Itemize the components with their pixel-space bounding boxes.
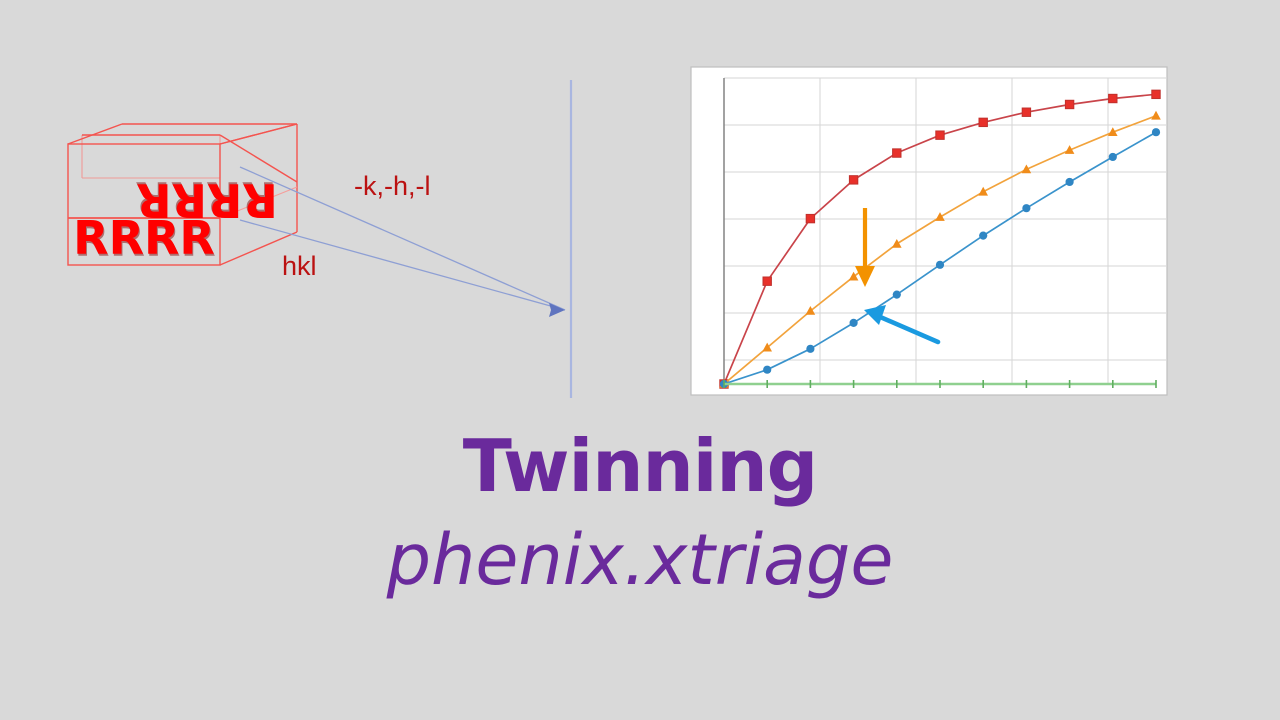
plot-background (691, 67, 1167, 395)
marker-square (893, 149, 901, 157)
lower-index-label: hkl (282, 251, 317, 281)
marker-square (936, 131, 944, 139)
marker-square (806, 214, 814, 222)
page-title: Twinning (0, 424, 1280, 508)
upright-r-group: RRRR (73, 211, 215, 265)
page-subtitle: phenix.xtriage (0, 514, 1280, 606)
marker-square (1022, 108, 1030, 116)
marker-circle (1022, 204, 1030, 212)
marker-square (1065, 100, 1073, 108)
marker-circle (1152, 128, 1160, 136)
twinned-lattice-diagram: RRRR RRRR RRRR RRRR -k,-h,-l hkl (60, 120, 580, 420)
marker-circle (850, 319, 858, 327)
detector-divider-line (560, 80, 582, 400)
marker-circle (1066, 178, 1074, 186)
marker-square (849, 176, 857, 184)
marker-circle (1109, 153, 1117, 161)
chart-svg (690, 66, 1168, 396)
title-block: Twinning phenix.xtriage (0, 424, 1280, 606)
marker-square (979, 118, 987, 126)
marker-circle (763, 366, 771, 374)
marker-square (1109, 94, 1117, 102)
lower-domain-letters: RRRR RRRR (73, 211, 216, 267)
diagram-svg: RRRR RRRR RRRR RRRR -k,-h,-l hkl (60, 120, 580, 420)
slide-canvas: RRRR RRRR RRRR RRRR -k,-h,-l hkl (0, 0, 1280, 720)
marker-circle (806, 345, 814, 353)
marker-circle (893, 291, 901, 299)
upper-index-label: -k,-h,-l (354, 171, 431, 201)
marker-square (763, 277, 771, 285)
marker-square (1152, 90, 1160, 98)
marker-circle (936, 261, 944, 269)
cumulative-intensity-chart (690, 66, 1168, 396)
marker-circle (979, 231, 987, 239)
